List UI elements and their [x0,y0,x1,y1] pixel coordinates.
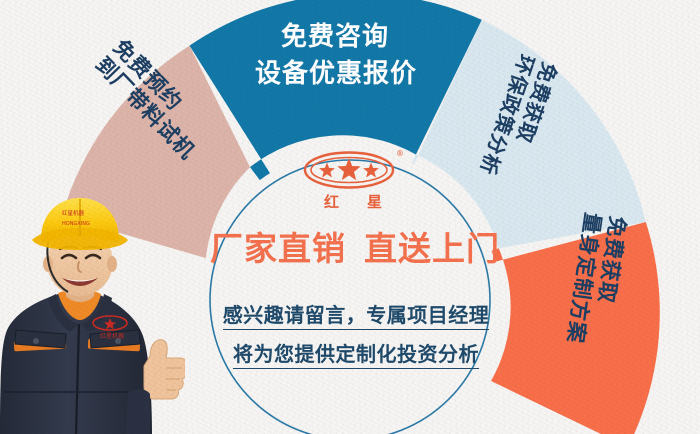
worker-thumbs-up-hand [144,340,185,399]
logo-star-right [363,163,379,178]
svg-text:HONGXING: HONGXING [62,221,90,227]
promo-banner: 免费预约 到厂带料试机 免费咨询 设备优惠报价 免费获取 环保政策分析 免费获取… [0,0,700,434]
worker-ear-right [107,256,117,272]
brand-logo[interactable]: ® 红星 [299,146,407,214]
subtext-line2-wrap[interactable]: 将为您提供定制化投资分析 [176,338,536,367]
headline[interactable]: 厂家直销直送上门 [180,222,530,270]
headline-part1: 厂家直销 [210,229,346,268]
logo-star-center [337,158,360,180]
worker-pocket-button-left [33,338,39,344]
headline-part2: 直送上门 [364,229,500,268]
arc-consult-line2: 设备优惠报价 [255,59,415,90]
registered-mark-icon: ® [396,149,404,158]
subtext-line1: 感兴趣请留言，专属项目经理 [223,303,490,330]
logo-wordmark: 红星 [324,193,407,211]
svg-text:红星机器: 红星机器 [62,209,85,217]
worker-sleeve-cuff [126,389,150,434]
svg-text:红星机器: 红星机器 [100,332,124,340]
logo-star-left [319,163,335,178]
arc-consult-label[interactable]: 免费咨询 设备优惠报价 [255,22,415,89]
logo-graphic: ® 红星 [299,146,407,214]
subtext-line2: 将为您提供定制化投资分析 [233,342,479,369]
worker-photo: 红星机器 红星机器 HONGXING [0,196,185,434]
subtext-line1-wrap[interactable]: 感兴趣请留言，专属项目经理 [176,299,536,328]
arc-consult-line1: 免费咨询 [255,22,415,53]
